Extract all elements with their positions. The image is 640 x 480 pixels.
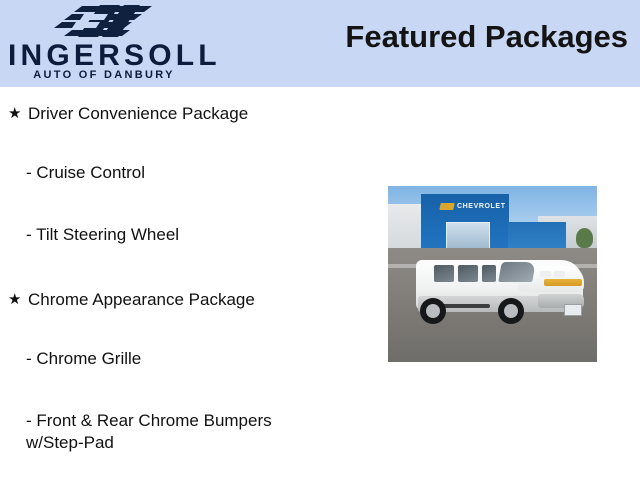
package-heading: ★ Chrome Appearance Package: [0, 285, 360, 315]
package-group: ★ Driver Convenience Package - Cruise Co…: [0, 99, 360, 129]
feature-item: - Cruise Control: [26, 162, 326, 184]
ingersoll-wing-emblem-icon: [48, 3, 156, 39]
photo-van-headlight: [540, 271, 551, 277]
package-name: Chrome Appearance Package: [28, 285, 255, 315]
header-band: INGERSOLL AUTO OF DANBURY Featured Packa…: [0, 0, 640, 87]
feature-item: - Tilt Steering Wheel: [26, 224, 326, 246]
feature-list: ★ Driver Convenience Package - Cruise Co…: [0, 87, 360, 480]
photo-van-hubcap: [504, 304, 518, 318]
photo-van-window: [434, 265, 454, 282]
package-group: ★ Chrome Appearance Package - Chrome Gri…: [0, 285, 360, 315]
chevrolet-bowtie-icon: [439, 203, 454, 210]
package-heading: ★ Driver Convenience Package: [0, 99, 360, 129]
photo-van-grille: [544, 279, 582, 286]
star-bullet-icon: ★: [8, 99, 21, 129]
photo-van-windshield: [498, 262, 536, 282]
photo-van-license-plate: [564, 304, 582, 316]
package-name: Driver Convenience Package: [28, 99, 248, 129]
photo-van-window: [458, 265, 478, 282]
photo-van-window: [482, 265, 496, 282]
photo-dealership-wing: [508, 222, 566, 248]
logo-wordmark: INGERSOLL: [8, 41, 200, 71]
feature-item: - Chrome Grille: [26, 348, 326, 370]
photo-van-headlight: [554, 271, 565, 277]
photo-showroom-glass: [446, 222, 490, 250]
star-bullet-icon: ★: [8, 285, 21, 315]
feature-item: - Front & Rear Chrome Bumpers w/Step-Pad: [26, 410, 306, 454]
logo-tagline: AUTO OF DANBURY: [8, 70, 200, 81]
page-title: Featured Packages: [330, 20, 628, 54]
vehicle-photo: CHEVROLET: [388, 186, 597, 362]
dealer-logo: INGERSOLL AUTO OF DANBURY: [0, 0, 205, 87]
photo-tree: [576, 228, 593, 248]
dealership-sign-text: CHEVROLET: [457, 202, 506, 211]
photo-van-hubcap: [426, 304, 440, 318]
